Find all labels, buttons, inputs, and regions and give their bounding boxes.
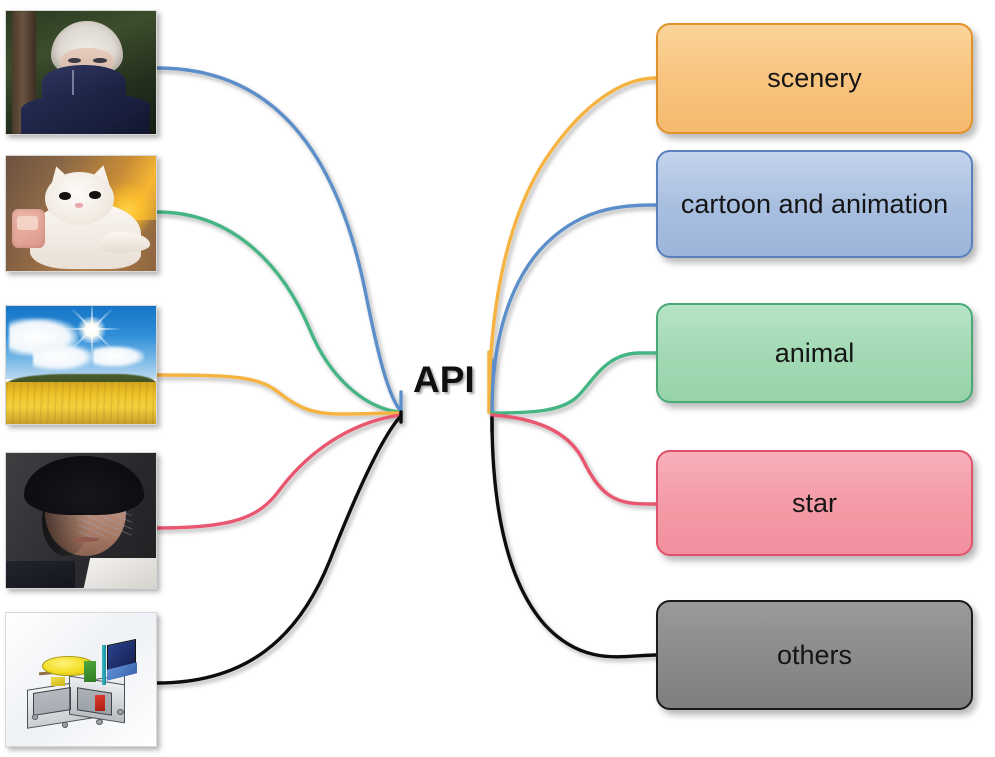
celebrity-portrait-image [6, 453, 156, 588]
connector-star-to-hub [157, 415, 400, 528]
category-label-animal: animal [775, 338, 855, 369]
diagram-canvas: API scenery cartoon and animation animal… [0, 0, 995, 757]
connector-cad-to-hub [157, 417, 400, 683]
connector-cat-to-hub [157, 212, 400, 412]
cad-machine-image [6, 613, 156, 746]
category-label-cartoon: cartoon and animation [681, 189, 948, 220]
category-box-scenery[interactable]: scenery [656, 23, 973, 134]
white-cat-image [6, 156, 156, 271]
sunny-field-image [6, 306, 156, 424]
input-white-cat-thumbnail[interactable] [5, 155, 157, 272]
category-label-others: others [777, 640, 852, 671]
connector-hub-to-cartoon [492, 205, 656, 412]
category-box-star[interactable]: star [656, 450, 973, 556]
category-label-scenery: scenery [767, 63, 862, 94]
api-hub-label: API [413, 359, 475, 401]
input-sunny-field-thumbnail[interactable] [5, 305, 157, 425]
connector-scenery-to-hub [157, 375, 400, 414]
connector-hub-to-others [492, 418, 656, 657]
category-box-animal[interactable]: animal [656, 303, 973, 403]
category-label-star: star [792, 488, 837, 519]
input-celebrity-portrait-thumbnail[interactable] [5, 452, 157, 589]
connector-hub-to-star [492, 415, 656, 504]
category-box-others[interactable]: others [656, 600, 973, 710]
connector-hub-to-animal [492, 353, 656, 413]
connector-anime-to-hub [157, 68, 400, 410]
anime-character-image [6, 11, 156, 134]
input-anime-character-thumbnail[interactable] [5, 10, 157, 135]
category-box-cartoon[interactable]: cartoon and animation [656, 150, 973, 258]
input-cad-machine-thumbnail[interactable] [5, 612, 157, 747]
connector-hub-to-scenery [489, 78, 656, 412]
